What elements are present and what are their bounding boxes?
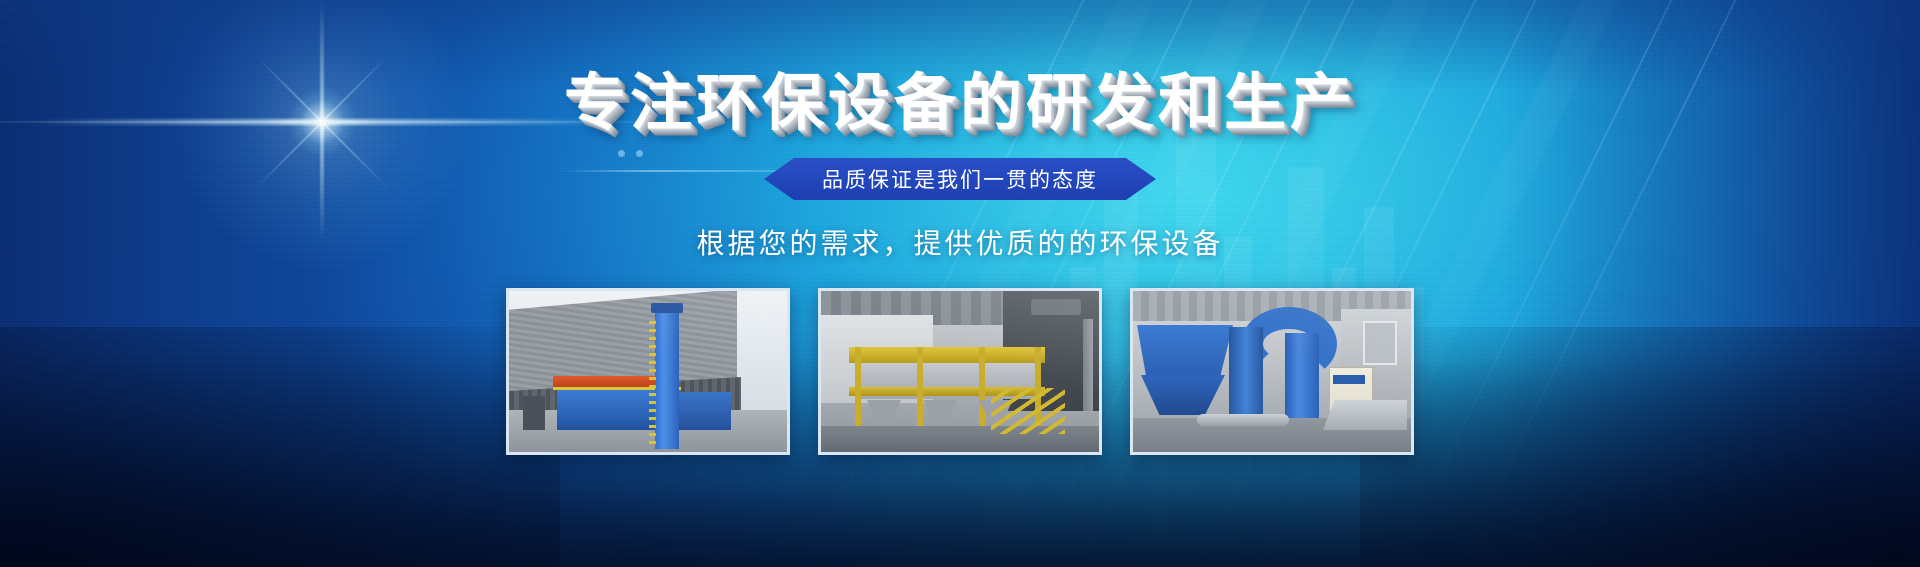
hero-banner: 专注环保设备的研发和生产 品质保证是我们一贯的态度 根据您的需求，提供优质的的环… [0, 0, 1920, 567]
banner-badge-wrapper: 品质保证是我们一贯的态度 [764, 158, 1156, 200]
photo-indoor-plant-yellow-railing [818, 288, 1102, 455]
photo-warehouse-dust-collector [506, 288, 790, 455]
photo-blue-cyclone-ducting [1130, 288, 1414, 455]
banner-photo-strip [506, 288, 1414, 455]
banner-badge: 品质保证是我们一贯的态度 [764, 158, 1156, 200]
banner-headline: 专注环保设备的研发和生产 [564, 52, 1356, 142]
banner-badge-label: 品质保证是我们一贯的态度 [822, 164, 1098, 194]
banner-content: 专注环保设备的研发和生产 品质保证是我们一贯的态度 根据您的需求，提供优质的的环… [0, 0, 1920, 567]
banner-subheadline: 根据您的需求，提供优质的的环保设备 [696, 222, 1223, 262]
